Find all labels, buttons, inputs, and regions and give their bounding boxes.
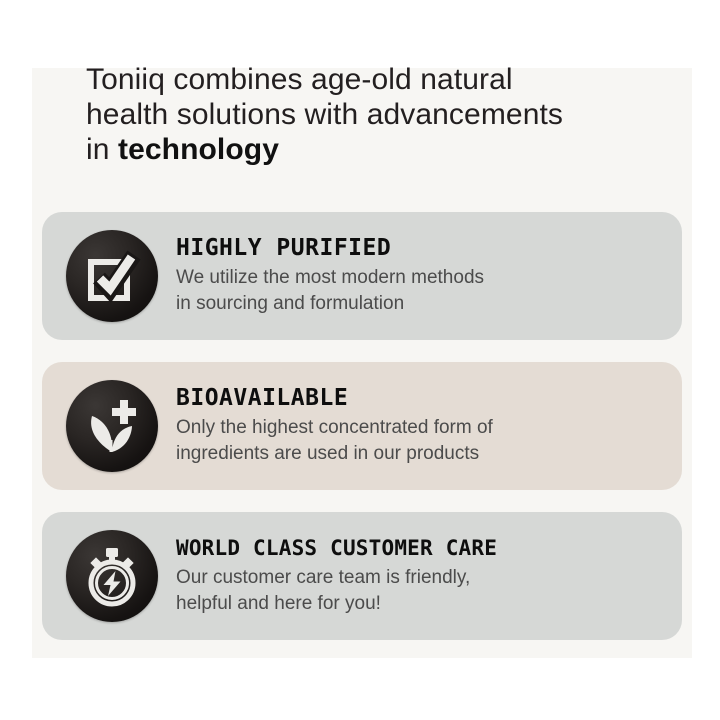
feature-card-list: HIGHLY PURIFIED We utilize the most mode… [42,212,682,640]
feature-description-line-2: helpful and here for you! [176,591,664,617]
stopwatch-bolt-icon [80,544,144,608]
feature-title: HIGHLY PURIFIED [176,235,664,262]
feature-card-highly-purified[interactable]: HIGHLY PURIFIED We utilize the most mode… [42,212,682,340]
feature-description-line-1: Only the highest concentrated form of [176,417,493,438]
page-root: Toniiq combines age-old natural health s… [0,0,720,720]
feature-description: We utilize the most modern methods in so… [176,265,664,317]
feature-title: WORLD CLASS CUSTOMER CARE [176,535,664,562]
feature-text: HIGHLY PURIFIED We utilize the most mode… [176,235,682,317]
feature-description: Our customer care team is friendly, help… [176,565,664,617]
feature-text: BIOAVAILABLE Only the highest concentrat… [176,385,682,467]
feature-description: Only the highest concentrated form of in… [176,415,664,467]
icon-disc [66,380,158,472]
feature-icon-wrap [64,378,160,474]
headline-line-1: Toniiq combines age-old natural [86,63,513,96]
checkbox-check-icon [81,245,143,307]
feature-description-line-1: Our customer care team is friendly, [176,567,470,588]
feature-card-bioavailable[interactable]: BIOAVAILABLE Only the highest concentrat… [42,362,682,490]
feature-description-line-2: in sourcing and formulation [176,291,664,317]
page-headline: Toniiq combines age-old natural health s… [86,62,606,167]
feature-icon-wrap [64,228,160,324]
headline-line-3-prefix: in [86,133,118,166]
feature-description-line-1: We utilize the most modern methods [176,267,484,288]
leaf-plus-icon [80,394,144,458]
feature-description-line-2: ingredients are used in our products [176,441,664,467]
icon-disc [66,230,158,322]
icon-disc [66,530,158,622]
feature-text: WORLD CLASS CUSTOMER CARE Our customer c… [176,535,682,617]
feature-card-world-class-customer-care[interactable]: WORLD CLASS CUSTOMER CARE Our customer c… [42,512,682,640]
feature-icon-wrap [64,528,160,624]
feature-title: BIOAVAILABLE [176,385,664,412]
headline-line-3-emphasis: technology [118,133,279,166]
headline-line-2: health solutions with advancements [86,98,563,131]
